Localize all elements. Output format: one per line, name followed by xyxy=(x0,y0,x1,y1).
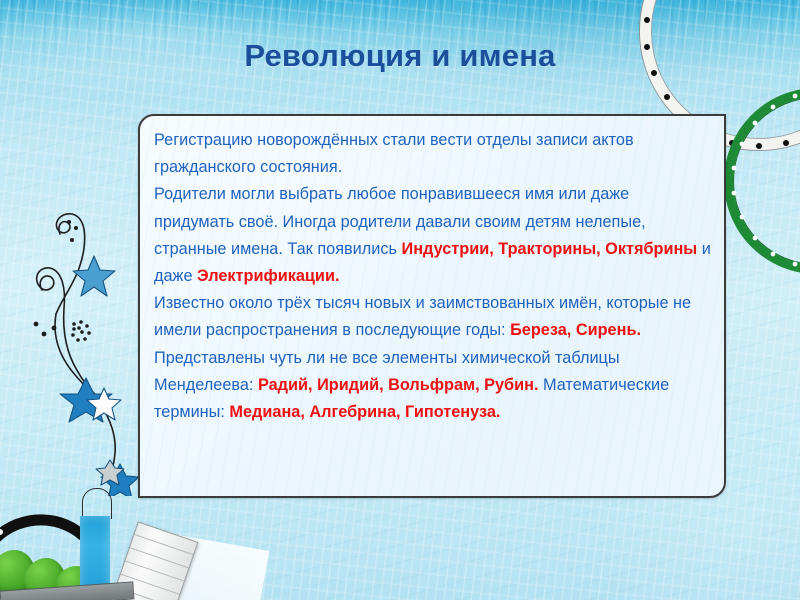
highlighted-name: Береза, Сирень. xyxy=(510,321,641,339)
highlighted-name: Электрификации. xyxy=(197,267,339,285)
ring-green-dots xyxy=(724,88,800,274)
dotted-ring-green-icon xyxy=(724,88,800,274)
school-supplies-collage xyxy=(0,500,264,600)
paragraph: Регистрацию новорождённых стали вести от… xyxy=(154,127,712,181)
ink-swirl-vine-icon xyxy=(12,196,152,496)
content-box: Регистрацию новорождённых стали вести от… xyxy=(138,114,726,498)
page-title: Революция и имена xyxy=(0,38,800,74)
paragraph: Известно около трёх тысяч новых и заимст… xyxy=(154,290,712,426)
highlighted-name: Радий, Иридий, Вольфрам, Рубин. xyxy=(258,376,538,394)
slide-canvas: Революция и имена Регистрацию новорождён… xyxy=(0,0,800,600)
tag-string xyxy=(82,488,112,519)
highlighted-name: Медиана, Алгебрина, Гипотенуза. xyxy=(229,403,500,421)
highlighted-name: Индустрии, Тракторины, Октябрины xyxy=(402,240,698,258)
swirl-stars-graphic xyxy=(12,196,152,496)
blue-star-icon xyxy=(73,256,115,296)
paragraph: Родители могли выбрать любое понравившее… xyxy=(154,181,712,290)
text-run: Регистрацию новорождённых стали вести от… xyxy=(154,131,634,176)
body-text: Регистрацию новорождённых стали вести от… xyxy=(140,116,724,426)
